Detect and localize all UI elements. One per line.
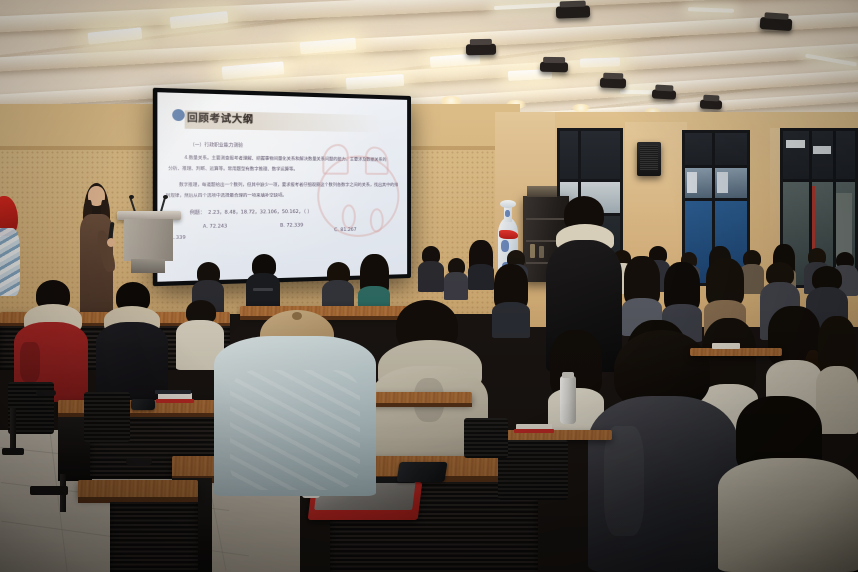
wall-speaker: [637, 142, 661, 176]
vase-lip: [500, 200, 516, 208]
audience-member-foreground: [718, 396, 858, 572]
desk-leg: [10, 408, 16, 450]
lectern: [117, 211, 181, 273]
chair-back: [498, 440, 568, 500]
projector-icon: [556, 5, 590, 18]
presenter-hand: [107, 238, 115, 247]
cabinet-item: [539, 246, 544, 258]
vase-ribbon: [499, 230, 518, 239]
lectern-base: [131, 259, 165, 273]
cabinet-item: [530, 244, 535, 258]
projector-icon: [600, 78, 626, 89]
water-bottle: [560, 376, 576, 424]
chair-back: [84, 392, 130, 442]
projector-icon: [540, 62, 568, 72]
desk-foot: [2, 448, 24, 455]
lecture-desk-foreground: [78, 480, 198, 498]
notebook-stack: [514, 429, 554, 433]
notebook-stack: [712, 343, 740, 349]
smartphone: [396, 462, 447, 482]
bottle-cap: [562, 372, 574, 378]
audience-member-foreground-knit: [214, 336, 376, 496]
projector-icon: [760, 17, 793, 31]
audience-member: [96, 282, 168, 402]
projector-icon: [700, 99, 722, 109]
desk-front-panel: [110, 502, 198, 572]
lectern-body: [124, 219, 173, 261]
slide-watermark: [341, 205, 355, 230]
slide-option-c: C. 81.267: [334, 228, 356, 233]
audience-member-foreground: [588, 330, 738, 572]
microphone-icon: [129, 195, 134, 199]
lecture-desk: [690, 348, 782, 356]
audience-member: [468, 240, 494, 290]
ceiling-downlight: [572, 104, 590, 112]
slide-watermark: [370, 208, 384, 232]
ceiling-light-panel: [580, 57, 620, 67]
chair-armrest: [126, 458, 152, 465]
projector-icon: [466, 44, 496, 56]
ceiling-light-tube: [620, 90, 654, 95]
slide-option-b: B. 72.339: [280, 223, 303, 229]
option-key: C: [334, 228, 337, 233]
audience-member: [492, 264, 530, 338]
lecture-hall-photo: 回顾考试大纲 （一）行政职业能力测验 4.数量关系。主要测查报考者理解、把握事物…: [0, 0, 858, 572]
chair-armrest: [36, 390, 56, 396]
option-text: 72.339: [286, 223, 303, 228]
option-text: 81.267: [340, 228, 356, 233]
smartphone: [131, 399, 155, 410]
notebook-stack: [156, 399, 194, 403]
projector-icon: [652, 89, 676, 99]
notebook-stack: [155, 390, 191, 394]
desk-foot: [30, 486, 68, 495]
option-key: B: [280, 223, 283, 228]
audience-member: [418, 246, 444, 292]
chair-back: [464, 418, 508, 458]
audience-member: [444, 258, 468, 300]
microphone-icon: [163, 195, 168, 199]
vase-pattern: [505, 210, 510, 217]
